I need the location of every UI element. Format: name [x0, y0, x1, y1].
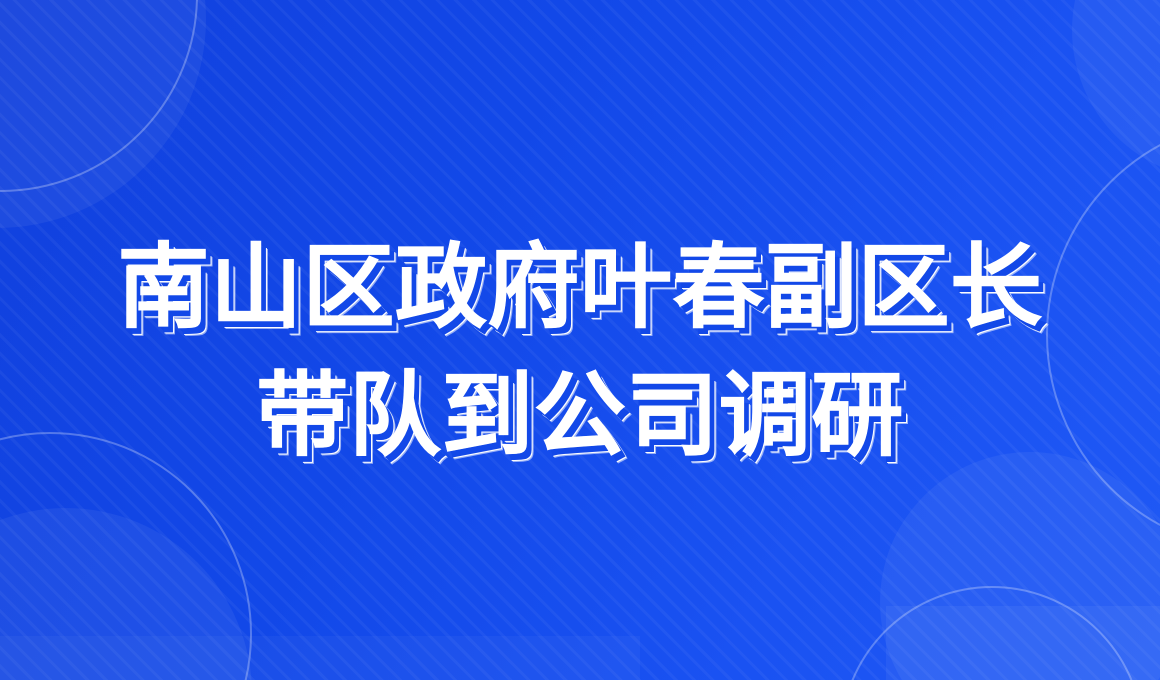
title-line-1: 南山区政府叶春副区长: [0, 226, 1160, 350]
circle-top-left-ring: [0, 0, 198, 192]
title-line-2: 带队到公司调研: [0, 354, 1160, 478]
page-title: 南山区政府叶春副区长 带队到公司调研: [0, 226, 1160, 478]
band-bottom-left: [0, 636, 640, 680]
poster-banner: 南山区政府叶春副区长 带队到公司调研: [0, 0, 1160, 680]
band-bottom-right: [886, 606, 1160, 680]
